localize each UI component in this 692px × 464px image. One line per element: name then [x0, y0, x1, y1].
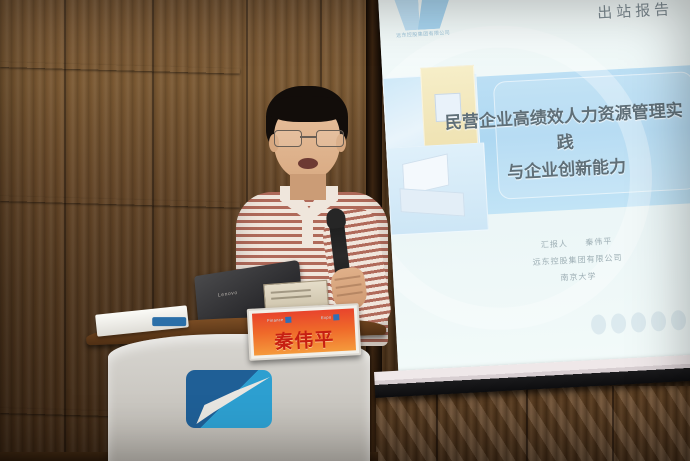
presenter-university: 南京大学: [560, 271, 596, 282]
speaker-nameplate: Finance Expo 秦伟平: [247, 303, 362, 361]
nameplate-name-text: 秦伟平: [274, 323, 335, 354]
sponsor-right-mark-icon: [333, 314, 339, 320]
sponsor-left-mark-icon: [285, 316, 291, 322]
slide-main-title: 民营企业高绩效人力资源管理实践 与企业创新能力: [438, 97, 692, 189]
laptop-brand-label: Lenovo: [218, 290, 238, 299]
organization-logo-icon: [186, 370, 272, 428]
slide-dot-decoration-icon: [591, 310, 687, 335]
presenter-label: 汇报人: [541, 239, 568, 249]
wood-panel-band-under-screen: [376, 386, 692, 464]
projection-screen: 远东控股集团有限公司 出站报告 民营企业高绩效人力资源管理实践 与企业创新能力 …: [378, 0, 692, 395]
sponsor-left-label: Finance: [267, 317, 284, 323]
speaker-neck: [290, 174, 326, 200]
slide-presenter-block: 汇报人 秦伟平 远东控股集团有限公司 南京大学: [481, 230, 673, 291]
sponsor-right-label: Expo: [321, 315, 332, 321]
slide-title-line-1: 民营企业高绩效人力资源管理实践: [444, 101, 683, 154]
slide-header-title: 出站报告: [597, 0, 674, 23]
speaker-mouth: [298, 158, 318, 169]
presenter-organization: 远东控股集团有限公司: [532, 253, 622, 267]
company-logo-icon: [394, 0, 452, 33]
conference-presentation-photo: 远东控股集团有限公司 出站报告 民营企业高绩效人力资源管理实践 与企业创新能力 …: [0, 0, 692, 464]
speaker-shirt-placket: [302, 214, 313, 248]
presenter-name: 秦伟平: [585, 237, 612, 247]
glasses-icon: [272, 130, 344, 146]
speaker-hair-fringe: [268, 96, 346, 122]
presentation-slide: 远东控股集团有限公司 出站报告 民营企业高绩效人力资源管理实践 与企业创新能力 …: [378, 0, 692, 395]
wall-seam: [64, 0, 66, 464]
